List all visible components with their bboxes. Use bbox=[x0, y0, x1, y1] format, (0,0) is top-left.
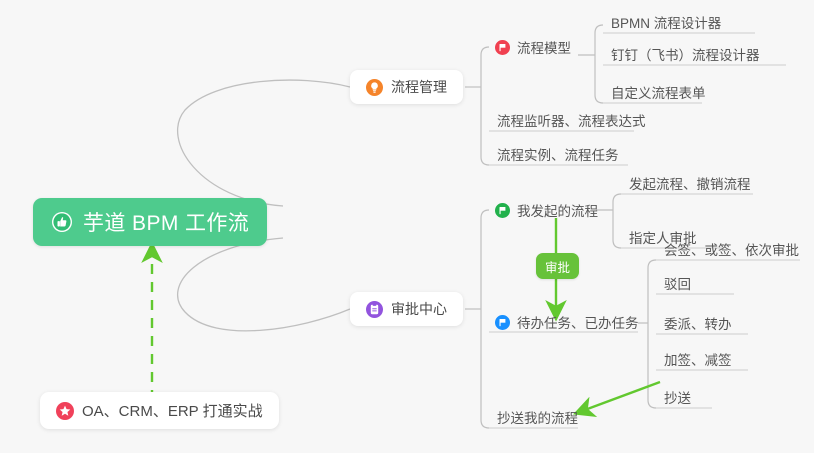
spine-cap-top-pm bbox=[481, 47, 489, 55]
node-my-initiated-process-label: 我发起的流程 bbox=[517, 200, 598, 220]
annotation-badge-approval: 审批 bbox=[536, 253, 579, 279]
node-reject[interactable]: 驳回 bbox=[656, 269, 701, 297]
flag-circle-green-icon bbox=[495, 203, 510, 218]
node-process-listener-expression[interactable]: 流程监听器、流程表达式 bbox=[489, 106, 656, 134]
node-process-model-label: 流程模型 bbox=[517, 37, 571, 57]
node-custom-process-form[interactable]: 自定义流程表单 bbox=[603, 78, 716, 106]
node-cc-to-me-process-label: 抄送我的流程 bbox=[497, 407, 578, 427]
node-process-model[interactable]: 流程模型 bbox=[489, 33, 581, 61]
node-countersign-orsign-sequential-label: 会签、或签、依次审批 bbox=[664, 239, 799, 259]
edge-root-to-process-management bbox=[178, 80, 350, 206]
mindmap-canvas: 芋道 BPM 工作流 流程管理 流程模型 BPMN 流程设计器 钉钉（飞书）流程… bbox=[0, 0, 814, 453]
spine-cap-top-model bbox=[595, 25, 603, 33]
spine-cap-top-mi bbox=[613, 194, 621, 202]
node-cc[interactable]: 抄送 bbox=[656, 383, 701, 411]
spine-cap-bottom-ac bbox=[481, 420, 489, 428]
node-todo-done-tasks[interactable]: 待办任务、已办任务 bbox=[489, 308, 649, 336]
node-process-management-label: 流程管理 bbox=[391, 77, 447, 97]
flag-circle-red-icon bbox=[495, 40, 510, 55]
annotation-badge-approval-label: 审批 bbox=[545, 257, 570, 276]
spine-cap-bottom-pm bbox=[481, 157, 489, 165]
node-add-remove-sign-label: 加签、减签 bbox=[664, 349, 732, 369]
root-label: 芋道 BPM 工作流 bbox=[83, 207, 249, 237]
node-process-instance-task[interactable]: 流程实例、流程任务 bbox=[489, 140, 629, 168]
node-approval-center-label: 审批中心 bbox=[391, 299, 447, 319]
node-start-cancel-process[interactable]: 发起流程、撤销流程 bbox=[621, 169, 761, 197]
spine-cap-bottom-mi bbox=[613, 240, 621, 248]
node-cc-label: 抄送 bbox=[664, 387, 691, 407]
node-start-cancel-process-label: 发起流程、撤销流程 bbox=[629, 173, 751, 193]
edge-root-to-approval-center bbox=[178, 238, 350, 331]
node-process-management[interactable]: 流程管理 bbox=[350, 70, 463, 104]
spine-cap-top-td bbox=[648, 260, 656, 268]
node-dingtalk-feishu-designer[interactable]: 钉钉（飞书）流程设计器 bbox=[603, 40, 770, 68]
node-add-remove-sign[interactable]: 加签、减签 bbox=[656, 345, 742, 373]
spine-cap-bottom-model bbox=[595, 95, 603, 103]
node-my-initiated-process[interactable]: 我发起的流程 bbox=[489, 196, 608, 224]
node-process-listener-expression-label: 流程监听器、流程表达式 bbox=[497, 110, 646, 130]
callout-oa-crm-erp-label: OA、CRM、ERP 打通实战 bbox=[82, 400, 263, 421]
callout-oa-crm-erp[interactable]: OA、CRM、ERP 打通实战 bbox=[40, 392, 279, 429]
root-node[interactable]: 芋道 BPM 工作流 bbox=[33, 198, 267, 246]
node-todo-done-tasks-label: 待办任务、已办任务 bbox=[517, 312, 639, 332]
node-process-instance-task-label: 流程实例、流程任务 bbox=[497, 144, 619, 164]
spine-cap-top-ac bbox=[481, 210, 489, 218]
node-delegate-transfer-label: 委派、转办 bbox=[664, 313, 732, 333]
node-custom-process-form-label: 自定义流程表单 bbox=[611, 82, 706, 102]
node-approval-center[interactable]: 审批中心 bbox=[350, 292, 463, 326]
node-cc-to-me-process[interactable]: 抄送我的流程 bbox=[489, 403, 588, 431]
spine-cap-bottom-td bbox=[648, 400, 656, 408]
flag-circle-blue-icon bbox=[495, 315, 510, 330]
annotation-arrow-cc bbox=[582, 382, 660, 411]
node-bpmn-designer-label: BPMN 流程设计器 bbox=[611, 12, 721, 32]
lightbulb-circle-icon bbox=[366, 79, 383, 96]
node-reject-label: 驳回 bbox=[664, 273, 691, 293]
clipboard-circle-purple-icon bbox=[366, 301, 383, 318]
node-countersign-orsign-sequential[interactable]: 会签、或签、依次审批 bbox=[656, 235, 809, 263]
thumbs-up-circle-icon bbox=[51, 211, 73, 233]
node-bpmn-designer[interactable]: BPMN 流程设计器 bbox=[603, 8, 731, 36]
star-circle-red-icon bbox=[56, 402, 74, 420]
node-delegate-transfer[interactable]: 委派、转办 bbox=[656, 309, 742, 337]
node-dingtalk-feishu-designer-label: 钉钉（飞书）流程设计器 bbox=[611, 44, 760, 64]
